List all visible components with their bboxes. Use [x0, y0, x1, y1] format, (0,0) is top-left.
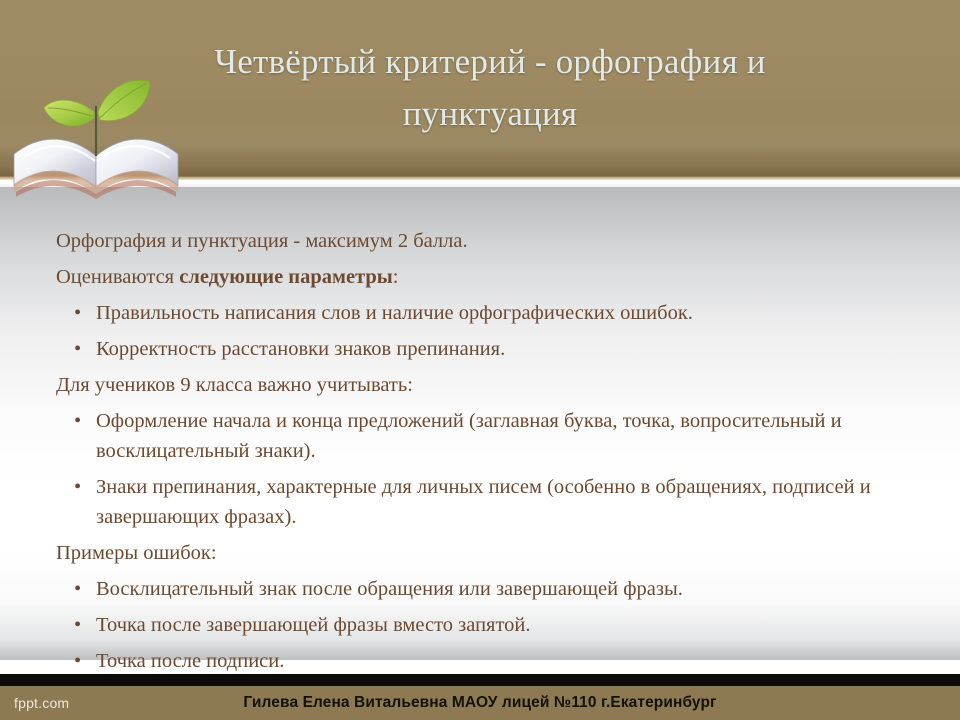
bullet-icon: • — [74, 472, 81, 502]
bullet-item-2: • Корректность расстановки знаков препин… — [56, 334, 916, 364]
footer-divider — [0, 674, 960, 686]
slide-title: Четвёртый критерий - орфография и пункту… — [120, 36, 860, 140]
bullet-item-3-text: Оформление начала и конца предложений (з… — [96, 406, 916, 466]
slide-title-line-2: пунктуация — [120, 88, 860, 140]
bullet-item-1: • Правильность написания слов и наличие … — [56, 298, 916, 328]
content-line-2-lead: Оцениваются — [56, 266, 179, 288]
content-line-3: Для учеников 9 класса важно учитывать: — [56, 370, 916, 400]
bullet-item-4-text: Знаки препинания, характерные для личных… — [96, 472, 916, 532]
bullet-item-4: • Знаки препинания, характерные для личн… — [56, 472, 916, 532]
bullet-icon: • — [74, 406, 81, 436]
bullet-item-5: • Восклицательный знак после обращения и… — [56, 574, 916, 604]
content-line-4: Примеры ошибок: — [56, 538, 916, 568]
bullet-item-7-text: Точка после подписи. — [96, 646, 916, 676]
bullet-item-2-text: Корректность расстановки знаков препинан… — [96, 334, 916, 364]
fppt-watermark: fppt.com — [14, 686, 69, 720]
bullet-item-3: • Оформление начала и конца предложений … — [56, 406, 916, 466]
bullet-icon: • — [74, 646, 81, 676]
bullet-item-6: • Точка после завершающей фразы вместо з… — [56, 610, 916, 640]
bullet-item-6-text: Точка после завершающей фразы вместо зап… — [96, 610, 916, 640]
bullet-icon: • — [74, 298, 81, 328]
bullet-icon: • — [74, 334, 81, 364]
content-line-2-tail: : — [393, 266, 399, 288]
presentation-slide: Четвёртый критерий - орфография и пункту… — [0, 0, 960, 720]
slide-content: Орфография и пунктуация - максимум 2 бал… — [56, 226, 916, 682]
bullet-item-1-text: Правильность написания слов и наличие ор… — [96, 298, 916, 328]
footer-credit: Гилева Елена Витальевна МАОУ лицей №110 … — [0, 686, 960, 720]
bullet-item-7: • Точка после подписи. — [56, 646, 916, 676]
content-line-2: Оцениваются следующие параметры: — [56, 262, 916, 292]
content-line-1: Орфография и пунктуация - максимум 2 бал… — [56, 226, 916, 256]
bullet-icon: • — [74, 610, 81, 640]
bullet-item-5-text: Восклицательный знак после обращения или… — [96, 574, 916, 604]
slide-title-line-1: Четвёртый критерий - орфография и — [120, 36, 860, 88]
bullet-icon: • — [74, 574, 81, 604]
content-line-2-bold: следующие параметры — [179, 266, 393, 288]
